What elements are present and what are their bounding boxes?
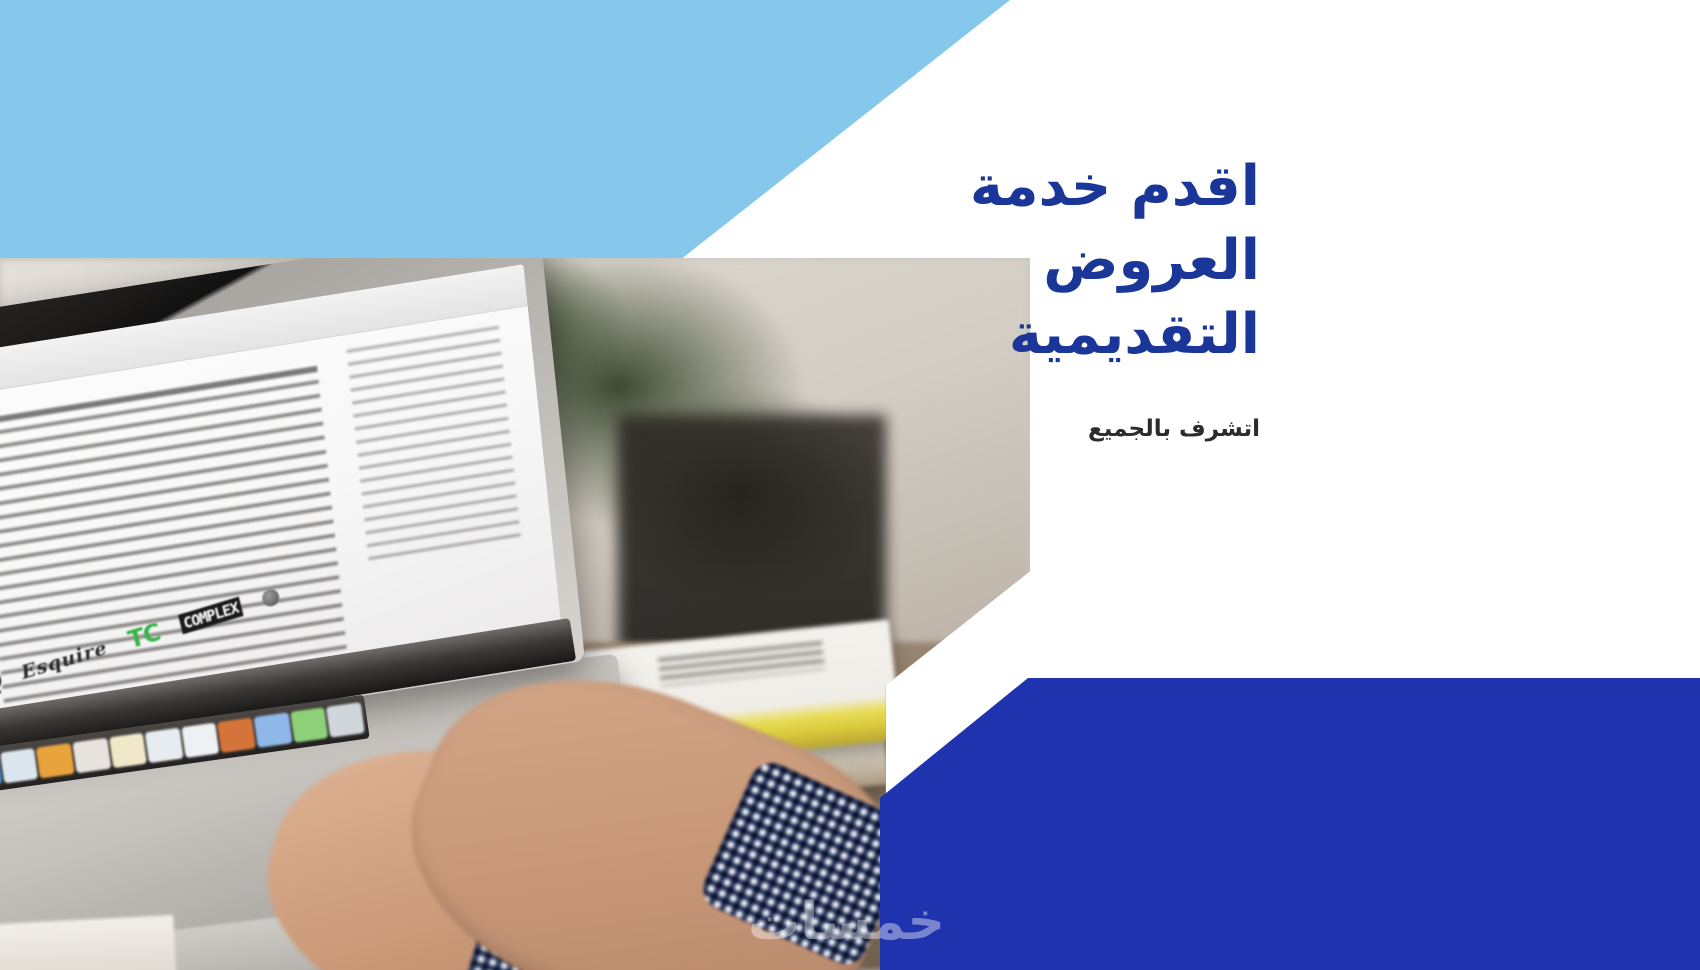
dock-app-icon-9	[181, 722, 220, 757]
dock-app-icon-7	[108, 732, 147, 767]
headline-line-2: العروض	[880, 224, 1260, 298]
headline-line-3: التقديمية	[880, 298, 1260, 372]
paper-sheet	[0, 915, 177, 970]
dock-app-icon-13	[326, 702, 365, 737]
photo-layers: GQ Esquire TC COMPLEX	[0, 258, 1030, 970]
dock-app-icon-4	[0, 748, 38, 783]
light-blue-wedge	[0, 0, 1010, 290]
dark-blue-block	[880, 678, 1700, 970]
techcrunch-logo: TC	[126, 618, 164, 654]
screen-side-column	[346, 326, 521, 562]
text-panel: اقدم خدمة العروض التقديمية اتشرف بالجميع	[880, 0, 1700, 678]
dock-app-icon-8	[145, 727, 184, 762]
esquire-logo: Esquire	[20, 637, 111, 684]
dock-app-icon-6	[72, 737, 111, 772]
dock-app-icon-10	[217, 717, 256, 752]
dock-app-icon-5	[36, 742, 75, 777]
dock-app-icon-12	[289, 707, 328, 742]
page-title: اقدم خدمة العروض التقديمية	[880, 150, 1260, 372]
light-blue-polygon	[0, 0, 1010, 290]
complex-logo: COMPLEX	[179, 597, 244, 635]
headline-line-1: اقدم خدمة	[880, 150, 1260, 224]
subtitle: اتشرف بالجميع	[880, 416, 1260, 442]
circle-logo-icon	[261, 587, 281, 608]
dark-blue-polygon	[880, 678, 1700, 970]
slide-canvas: GQ Esquire TC COMPLEX	[0, 0, 1700, 970]
hero-photo: GQ Esquire TC COMPLEX	[0, 258, 1030, 970]
dock-app-icon-11	[253, 712, 292, 747]
gq-logo: GQ	[0, 666, 4, 707]
